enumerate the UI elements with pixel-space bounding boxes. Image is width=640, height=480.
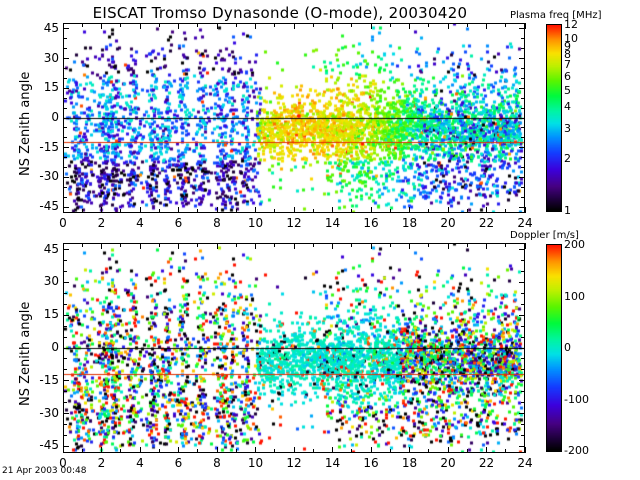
y-tick-mark xyxy=(63,413,69,414)
y-tick-mark xyxy=(519,348,525,349)
y-minor-tick xyxy=(521,391,525,392)
x-tick-mark xyxy=(409,207,410,213)
y-minor-tick xyxy=(63,167,67,168)
y-tick-mark xyxy=(63,118,69,119)
x-minor-tick xyxy=(467,449,468,453)
y-minor-tick xyxy=(521,337,525,338)
x-tick-label: 18 xyxy=(390,216,430,230)
y-tick-label: 45 xyxy=(15,21,59,35)
plasma-freq-colorbar-title: Plasma freq [MHz] xyxy=(510,10,601,21)
x-minor-tick xyxy=(313,23,314,27)
x-minor-tick xyxy=(236,23,237,27)
y-tick-mark xyxy=(63,147,69,148)
x-tick-mark xyxy=(294,23,295,29)
y-minor-tick xyxy=(521,326,525,327)
y-minor-tick xyxy=(521,435,525,436)
x-minor-tick xyxy=(197,243,198,247)
y-tick-mark xyxy=(519,413,525,414)
y-tick-mark xyxy=(519,58,525,59)
y-minor-tick xyxy=(521,271,525,272)
x-tick-mark xyxy=(409,243,410,249)
x-tick-mark xyxy=(140,447,141,453)
x-minor-tick xyxy=(159,449,160,453)
x-tick-label: 16 xyxy=(351,456,391,470)
x-tick-mark xyxy=(255,447,256,453)
colorbar-tick-label: 2 xyxy=(564,152,571,165)
y-minor-tick xyxy=(63,48,67,49)
y-tick-label: 0 xyxy=(15,110,59,124)
y-tick-label: -45 xyxy=(15,438,59,452)
y-minor-tick xyxy=(521,358,525,359)
x-tick-label: 20 xyxy=(428,456,468,470)
y-minor-tick xyxy=(521,293,525,294)
screenshot-root: EISCAT Tromso Dynasonde (O-mode), 200304… xyxy=(0,0,640,480)
colorbar-tick-label: 100 xyxy=(564,290,585,303)
colorbar-tick-label: 6 xyxy=(564,70,571,83)
x-tick-label: 10 xyxy=(236,456,276,470)
x-minor-tick xyxy=(467,23,468,27)
x-minor-tick xyxy=(120,23,121,27)
x-minor-tick xyxy=(351,23,352,27)
y-tick-mark xyxy=(519,88,525,89)
y-minor-tick xyxy=(521,402,525,403)
x-minor-tick xyxy=(120,209,121,213)
x-tick-mark xyxy=(486,447,487,453)
x-minor-tick xyxy=(120,449,121,453)
x-tick-label: 14 xyxy=(313,216,353,230)
x-minor-tick xyxy=(82,23,83,27)
x-tick-mark xyxy=(371,23,372,29)
doppler-panel xyxy=(63,243,525,453)
x-minor-tick xyxy=(467,209,468,213)
y-minor-tick xyxy=(521,38,525,39)
x-minor-tick xyxy=(159,243,160,247)
y-tick-label: 15 xyxy=(15,80,59,94)
y-minor-tick xyxy=(63,435,67,436)
x-tick-label: 6 xyxy=(159,216,199,230)
x-tick-mark xyxy=(448,23,449,29)
y-minor-tick xyxy=(521,167,525,168)
y-tick-mark xyxy=(63,315,69,316)
x-tick-mark xyxy=(332,243,333,249)
x-tick-mark xyxy=(178,447,179,453)
x-tick-mark xyxy=(448,207,449,213)
y-minor-tick xyxy=(63,157,67,158)
x-minor-tick xyxy=(351,449,352,453)
y-minor-tick xyxy=(63,98,67,99)
x-tick-label: 18 xyxy=(390,456,430,470)
x-tick-mark xyxy=(525,23,526,29)
y-minor-tick xyxy=(63,424,67,425)
x-tick-mark xyxy=(140,23,141,29)
x-minor-tick xyxy=(82,209,83,213)
x-tick-label: 14 xyxy=(313,456,353,470)
y-minor-tick xyxy=(521,48,525,49)
y-minor-tick xyxy=(521,197,525,198)
y-tick-mark xyxy=(63,249,69,250)
y-minor-tick xyxy=(63,337,67,338)
x-tick-label: 2 xyxy=(82,456,122,470)
x-tick-mark xyxy=(294,447,295,453)
x-tick-mark xyxy=(255,23,256,29)
y-tick-mark xyxy=(63,207,69,208)
x-tick-mark xyxy=(140,207,141,213)
x-minor-tick xyxy=(236,449,237,453)
x-minor-tick xyxy=(274,449,275,453)
x-tick-mark xyxy=(409,447,410,453)
y-minor-tick xyxy=(521,108,525,109)
x-tick-label: 10 xyxy=(236,216,276,230)
x-minor-tick xyxy=(159,23,160,27)
y-tick-mark xyxy=(63,446,69,447)
x-tick-label: 24 xyxy=(505,456,545,470)
x-tick-mark xyxy=(525,207,526,213)
x-tick-mark xyxy=(63,207,64,213)
y-minor-tick xyxy=(63,391,67,392)
y-tick-mark xyxy=(519,249,525,250)
y-tick-label: 30 xyxy=(15,274,59,288)
x-tick-label: 0 xyxy=(43,456,83,470)
y-minor-tick xyxy=(521,98,525,99)
y-tick-mark xyxy=(519,118,525,119)
colorbar-tick-label: 200 xyxy=(564,238,585,251)
x-tick-mark xyxy=(294,243,295,249)
x-tick-mark xyxy=(371,207,372,213)
x-tick-label: 12 xyxy=(274,456,314,470)
x-tick-label: 4 xyxy=(120,456,160,470)
y-minor-tick xyxy=(521,304,525,305)
y-minor-tick xyxy=(63,108,67,109)
y-tick-mark xyxy=(519,147,525,148)
x-minor-tick xyxy=(467,243,468,247)
x-tick-label: 12 xyxy=(274,216,314,230)
x-tick-mark xyxy=(178,243,179,249)
x-tick-mark xyxy=(525,243,526,249)
x-tick-mark xyxy=(332,207,333,213)
x-tick-mark xyxy=(101,243,102,249)
colorbar-tick-label: 3 xyxy=(564,122,571,135)
y-tick-label: 45 xyxy=(15,242,59,256)
x-minor-tick xyxy=(428,449,429,453)
x-tick-mark xyxy=(217,207,218,213)
x-minor-tick xyxy=(505,243,506,247)
colorbar-tick-label: 5 xyxy=(564,84,571,97)
x-tick-label: 4 xyxy=(120,216,160,230)
x-minor-tick xyxy=(351,209,352,213)
plasma-frequency-scatter xyxy=(64,24,524,212)
x-minor-tick xyxy=(505,449,506,453)
x-minor-tick xyxy=(505,209,506,213)
y-minor-tick xyxy=(521,127,525,128)
x-minor-tick xyxy=(428,243,429,247)
x-tick-mark xyxy=(294,207,295,213)
y-minor-tick xyxy=(521,260,525,261)
x-minor-tick xyxy=(120,243,121,247)
x-tick-mark xyxy=(178,207,179,213)
x-tick-mark xyxy=(486,23,487,29)
x-tick-label: 0 xyxy=(43,216,83,230)
y-minor-tick xyxy=(63,358,67,359)
x-tick-label: 22 xyxy=(467,456,507,470)
y-minor-tick xyxy=(63,38,67,39)
x-tick-mark xyxy=(409,23,410,29)
y-minor-tick xyxy=(63,271,67,272)
x-tick-mark xyxy=(332,23,333,29)
x-tick-mark xyxy=(63,23,64,29)
x-minor-tick xyxy=(236,243,237,247)
x-tick-mark xyxy=(371,447,372,453)
x-minor-tick xyxy=(428,209,429,213)
y-minor-tick xyxy=(63,326,67,327)
x-tick-mark xyxy=(63,243,64,249)
y-minor-tick xyxy=(63,127,67,128)
x-tick-label: 6 xyxy=(159,456,199,470)
doppler-colorbar xyxy=(546,244,562,452)
x-minor-tick xyxy=(159,209,160,213)
x-minor-tick xyxy=(82,243,83,247)
y-tick-label: 15 xyxy=(15,307,59,321)
x-tick-mark xyxy=(448,243,449,249)
y-tick-label: -30 xyxy=(15,169,59,183)
y-minor-tick xyxy=(521,137,525,138)
y-tick-label: -45 xyxy=(15,199,59,213)
plasma-frequency-panel xyxy=(63,23,525,213)
colorbar-tick-label: 0 xyxy=(564,341,571,354)
y-minor-tick xyxy=(63,260,67,261)
x-tick-mark xyxy=(178,23,179,29)
x-minor-tick xyxy=(390,209,391,213)
x-minor-tick xyxy=(274,209,275,213)
x-tick-label: 24 xyxy=(505,216,545,230)
y-tick-mark xyxy=(63,348,69,349)
y-minor-tick xyxy=(63,197,67,198)
x-minor-tick xyxy=(236,209,237,213)
y-tick-mark xyxy=(63,58,69,59)
y-tick-mark xyxy=(519,177,525,178)
x-tick-label: 8 xyxy=(197,216,237,230)
colorbar-tick-label: 12 xyxy=(564,18,578,31)
x-minor-tick xyxy=(313,449,314,453)
doppler-scatter xyxy=(64,244,524,452)
plasma-freq-colorbar-gradient xyxy=(547,25,561,211)
x-tick-mark xyxy=(255,207,256,213)
y-minor-tick xyxy=(521,369,525,370)
page-title: EISCAT Tromso Dynasonde (O-mode), 200304… xyxy=(0,4,560,22)
colorbar-tick-label: -200 xyxy=(564,444,589,457)
y-minor-tick xyxy=(521,157,525,158)
x-tick-label: 2 xyxy=(82,216,122,230)
y-tick-label: -15 xyxy=(15,140,59,154)
x-tick-mark xyxy=(332,447,333,453)
x-tick-mark xyxy=(140,243,141,249)
x-tick-mark xyxy=(486,207,487,213)
y-tick-mark xyxy=(519,282,525,283)
y-minor-tick xyxy=(521,68,525,69)
x-tick-mark xyxy=(217,243,218,249)
y-tick-mark xyxy=(63,88,69,89)
x-tick-mark xyxy=(448,447,449,453)
x-tick-label: 20 xyxy=(428,216,468,230)
y-tick-mark xyxy=(63,28,69,29)
y-minor-tick xyxy=(63,187,67,188)
y-minor-tick xyxy=(63,304,67,305)
y-minor-tick xyxy=(63,293,67,294)
x-minor-tick xyxy=(197,449,198,453)
doppler-colorbar-gradient xyxy=(547,245,561,451)
x-tick-mark xyxy=(63,447,64,453)
x-tick-mark xyxy=(101,23,102,29)
y-minor-tick xyxy=(521,187,525,188)
x-tick-mark xyxy=(255,243,256,249)
x-minor-tick xyxy=(351,243,352,247)
y-tick-mark xyxy=(519,315,525,316)
x-tick-mark xyxy=(525,447,526,453)
y-tick-mark xyxy=(63,177,69,178)
x-minor-tick xyxy=(428,23,429,27)
plasma-freq-colorbar xyxy=(546,24,562,212)
y-tick-label: 30 xyxy=(15,51,59,65)
x-minor-tick xyxy=(82,449,83,453)
y-minor-tick xyxy=(63,369,67,370)
x-minor-tick xyxy=(390,243,391,247)
y-minor-tick xyxy=(521,424,525,425)
y-minor-tick xyxy=(63,68,67,69)
y-tick-mark xyxy=(63,380,69,381)
y-minor-tick xyxy=(63,78,67,79)
x-minor-tick xyxy=(197,23,198,27)
x-tick-mark xyxy=(217,447,218,453)
x-minor-tick xyxy=(274,243,275,247)
x-minor-tick xyxy=(197,209,198,213)
x-tick-label: 16 xyxy=(351,216,391,230)
y-tick-mark xyxy=(63,282,69,283)
x-minor-tick xyxy=(274,23,275,27)
y-minor-tick xyxy=(63,402,67,403)
x-tick-label: 22 xyxy=(467,216,507,230)
x-minor-tick xyxy=(390,23,391,27)
x-tick-mark xyxy=(371,243,372,249)
x-tick-mark xyxy=(101,447,102,453)
x-minor-tick xyxy=(313,209,314,213)
x-minor-tick xyxy=(505,23,506,27)
colorbar-tick-label: -100 xyxy=(564,393,589,406)
x-tick-label: 8 xyxy=(197,456,237,470)
x-tick-mark xyxy=(217,23,218,29)
colorbar-tick-label: 1 xyxy=(564,204,571,217)
y-tick-mark xyxy=(519,380,525,381)
x-tick-mark xyxy=(101,207,102,213)
x-minor-tick xyxy=(313,243,314,247)
y-minor-tick xyxy=(521,78,525,79)
x-tick-mark xyxy=(486,243,487,249)
colorbar-tick-label: 4 xyxy=(564,100,571,113)
y-tick-label: 0 xyxy=(15,340,59,354)
y-minor-tick xyxy=(63,137,67,138)
y-tick-label: -30 xyxy=(15,406,59,420)
y-tick-label: -15 xyxy=(15,373,59,387)
x-minor-tick xyxy=(390,449,391,453)
